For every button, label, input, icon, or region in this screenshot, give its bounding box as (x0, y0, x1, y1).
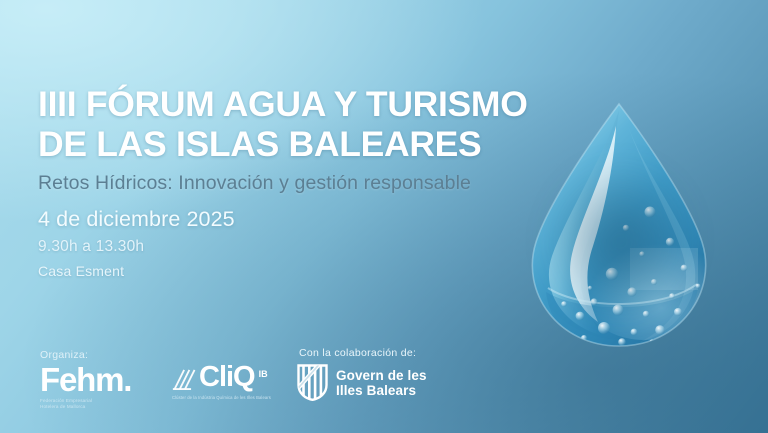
title-line-1: IIII FÓRUM AGUA Y TURISMO (38, 84, 528, 124)
poster-subtitle: Retos Hídricos: Innovación y gestión res… (38, 172, 471, 195)
cliq-mark-icon (172, 366, 198, 393)
cliq-wordmark: CliQ IB (199, 362, 255, 392)
balearic-shield-icon (297, 364, 328, 401)
poster-canvas: IIII FÓRUM AGUA Y TURISMO DE LAS ISLAS B… (0, 0, 768, 433)
title-line-2: DE LAS ISLAS BALEARES (38, 124, 598, 164)
event-venue: Casa Esment (38, 263, 124, 279)
organiser-label: Organiza: (40, 349, 88, 361)
fehm-tagline-line-2: Hotelera de Mallorca (40, 404, 160, 410)
govern-line-2: Illes Balears (336, 383, 427, 398)
cliq-wordmark-text: CliQ (199, 361, 255, 393)
fehm-wordmark: Fehm. (40, 363, 160, 396)
event-date: 4 de diciembre 2025 (38, 207, 235, 232)
cliq-logo: CliQ IB Clúster de la Indústria Química … (172, 362, 284, 400)
event-time: 9.30h a 13.30h (38, 238, 144, 256)
fehm-tagline: Federación Empresarial Hotelera de Mallo… (40, 398, 160, 409)
fehm-logo: Fehm. Federación Empresarial Hotelera de… (40, 363, 160, 409)
cliq-tagline: Clúster de la Indústria Química de les I… (172, 395, 284, 400)
cliq-superscript: IB (259, 359, 268, 389)
govern-illes-balears-logo: Govern de les Illes Balears (297, 364, 427, 401)
poster-title: IIII FÓRUM AGUA Y TURISMO DE LAS ISLAS B… (38, 84, 598, 164)
govern-line-1: Govern de les (336, 368, 427, 383)
collaboration-label: Con la colaboración de: (299, 347, 416, 359)
govern-wordmark: Govern de les Illes Balears (336, 368, 427, 398)
